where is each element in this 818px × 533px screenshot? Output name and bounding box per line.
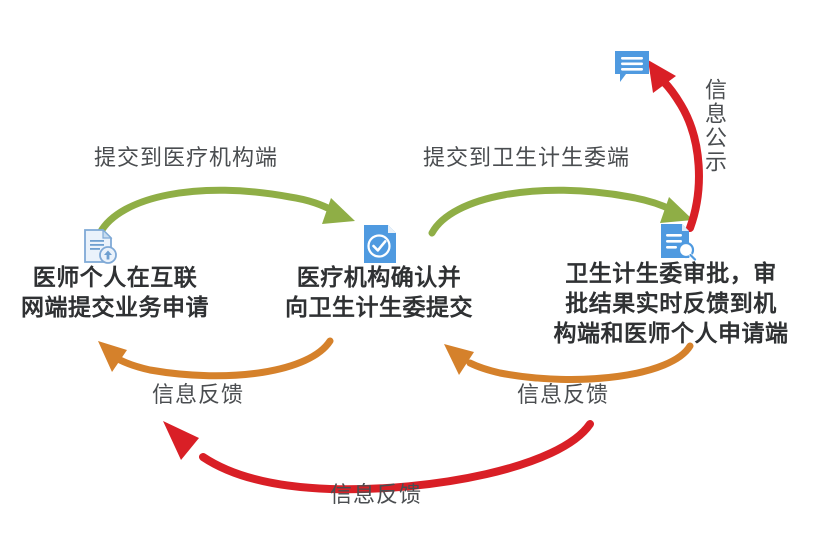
node-institution: 医疗机构确认并 向卫生计生委提交	[262, 262, 496, 322]
arrow-submit-to-commission	[432, 190, 693, 233]
node-commission-label: 卫生计生委审批，审 批结果实时反馈到机 构端和医师个人申请端	[524, 258, 818, 348]
edge-label-publicity: 信息公示	[700, 78, 728, 174]
document-search-icon	[656, 221, 698, 263]
node-doctor: 医师个人在互联 网端提交业务申请	[0, 262, 230, 322]
flowchart-canvas: 医师个人在互联 网端提交业务申请 医疗机构确认并 向卫生计生委提交 卫生计生委审…	[0, 0, 818, 533]
edge-label-feedback-middle: 信息反馈	[152, 381, 244, 409]
node-commission: 卫生计生委审批，审 批结果实时反馈到机 构端和医师个人申请端	[524, 258, 818, 348]
arrow-feedback-middle	[98, 341, 330, 376]
document-check-icon	[360, 222, 400, 266]
edge-label-submit-to-commission: 提交到卫生计生委端	[423, 144, 630, 172]
edge-label-feedback-right: 信息反馈	[517, 381, 609, 409]
arrow-feedback-bottom	[163, 421, 590, 489]
node-doctor-label: 医师个人在互联 网端提交业务申请	[0, 262, 230, 322]
document-upload-icon	[79, 226, 119, 266]
edge-label-submit-to-institution: 提交到医疗机构端	[94, 144, 278, 172]
arrow-feedback-right	[444, 344, 690, 379]
edge-label-feedback-bottom: 信息反馈	[330, 481, 422, 509]
node-institution-label: 医疗机构确认并 向卫生计生委提交	[262, 262, 496, 322]
speech-bubble-icon	[612, 48, 652, 86]
arrow-submit-to-institution	[100, 190, 355, 233]
